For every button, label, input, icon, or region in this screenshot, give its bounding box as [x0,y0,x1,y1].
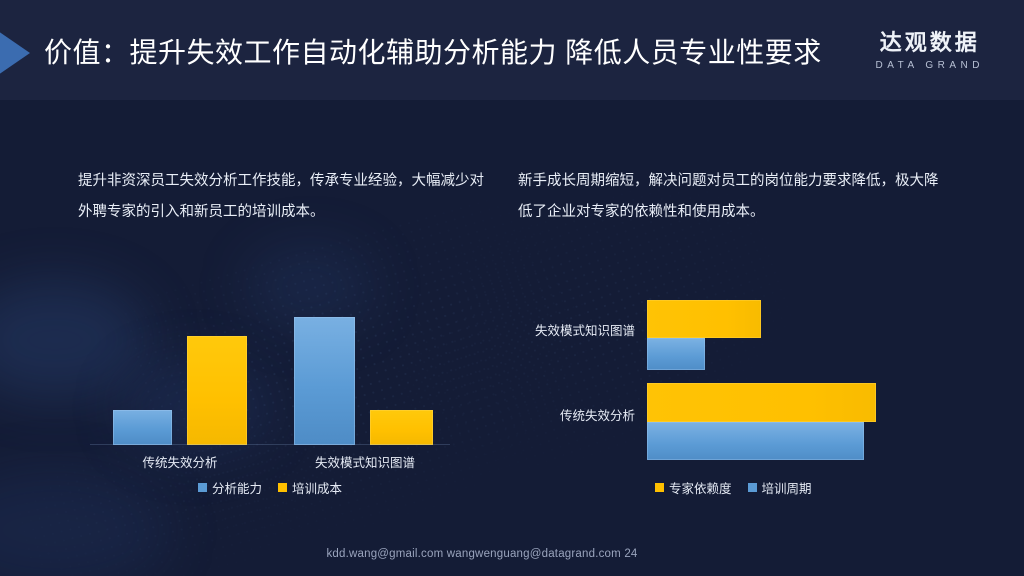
bar-trainingcycle-kg [647,338,705,370]
legend-label: 培训成本 [292,478,342,497]
page-title: 价值：提升失效工作自动化辅助分析能力 降低人员专业性要求 [44,31,822,75]
legend-swatch-blue-icon [748,483,757,492]
right-bar-chart: 失效模式知识图谱 传统失效分析 [505,295,945,495]
legend-swatch-gold-icon [278,483,287,492]
bar-expertdependency-kg [647,300,761,338]
brand-logo-en: DATA GRAND [875,59,984,73]
right-chart-category-label: 传统失效分析 [560,405,635,424]
brand-logo: 达观数据 DATA GRAND [875,30,984,73]
axis-baseline [90,444,450,445]
left-chart-category-label: 传统失效分析 [110,452,250,471]
legend-swatch-blue-icon [198,483,207,492]
triangle-right-icon [0,31,30,75]
left-chart-category-label: 失效模式知识图谱 [275,452,455,471]
legend-swatch-gold-icon [655,483,664,492]
body-paragraph-right: 新手成长周期缩短，解决问题对员工的岗位能力要求降低，极大降低了企业对专家的依赖性… [518,166,948,228]
bar-trainingcost-traditional [187,336,247,445]
left-chart-plot-area [90,300,460,445]
right-chart-legend: 专家依赖度 培训周期 [655,478,812,497]
brand-logo-cn: 达观数据 [875,30,984,56]
bar-trainingcycle-traditional [647,422,864,460]
slide-canvas: nguang 价值：提升失效工作自动化辅助分析能力 降低人员专业性要求 达观数据… [0,0,1024,576]
bar-analysis-kg [294,317,355,445]
legend-label: 分析能力 [212,478,262,497]
bar-expertdependency-traditional [647,383,876,422]
right-chart-category-label: 失效模式知识图谱 [535,320,635,339]
bar-analysis-traditional [113,410,172,445]
bar-trainingcost-kg [370,410,433,445]
legend-label: 培训周期 [762,478,812,497]
legend-item-analysis: 分析能力 [198,478,262,497]
left-chart-legend: 分析能力 培训成本 [198,478,342,497]
legend-item-trainingcycle: 培训周期 [748,478,812,497]
slide-header: 价值：提升失效工作自动化辅助分析能力 降低人员专业性要求 达观数据 DATA G… [0,0,1024,100]
legend-item-expertdependency: 专家依赖度 [655,478,732,497]
legend-item-trainingcost: 培训成本 [278,478,342,497]
slide-footer: kdd.wang@gmail.com wangwenguang@datagran… [0,548,1024,560]
body-paragraph-left: 提升非资深员工失效分析工作技能，传承专业经验，大幅减少对外聘专家的引入和新员工的… [78,166,498,228]
left-bar-chart: 传统失效分析 失效模式知识图谱 [90,300,460,500]
legend-label: 专家依赖度 [669,478,732,497]
